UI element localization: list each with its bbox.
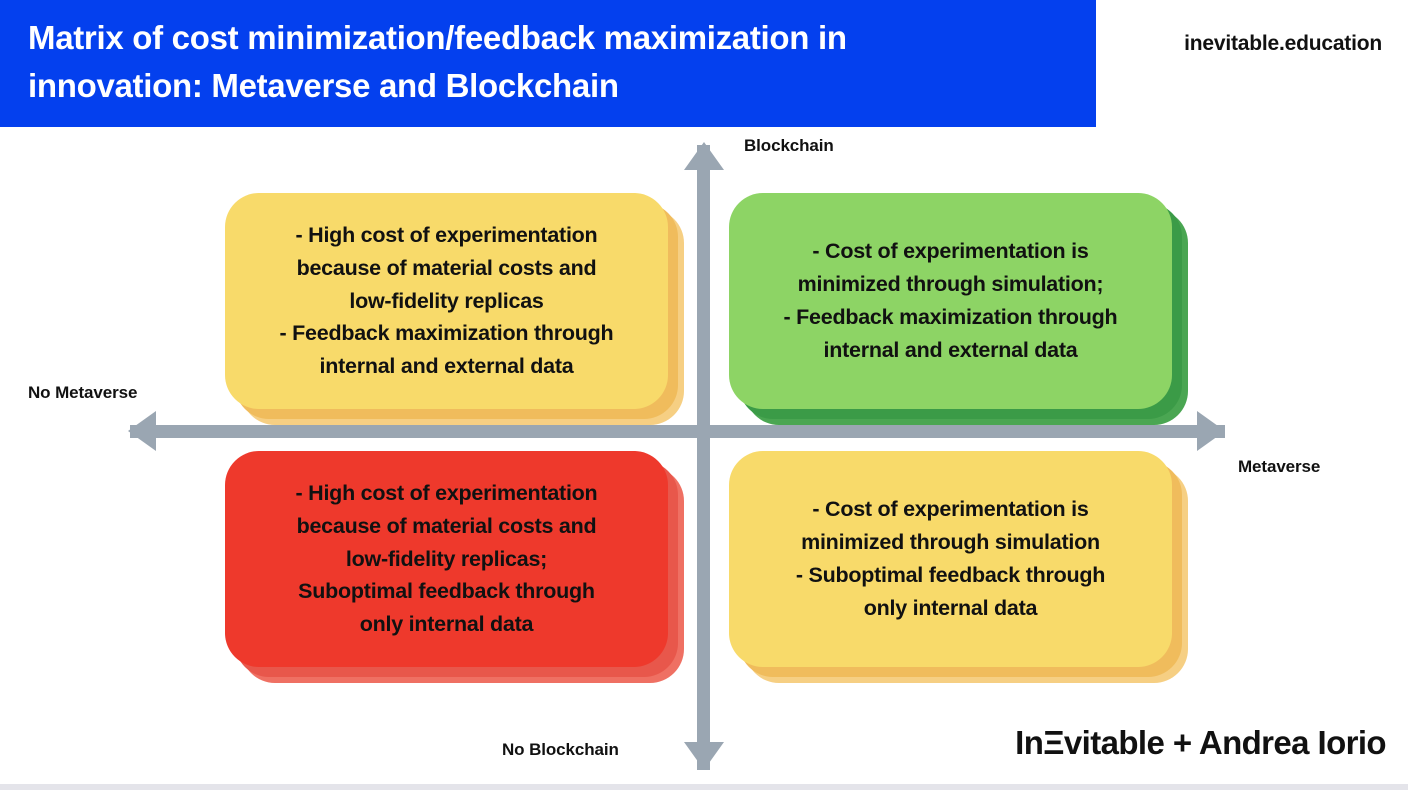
axis-label-right: Metaverse xyxy=(1238,457,1320,477)
quadrant-card-top-left: - High cost of experimentation because o… xyxy=(225,193,668,409)
arrow-down-icon xyxy=(684,742,724,770)
page-title: Matrix of cost minimization/feedback max… xyxy=(28,14,847,110)
quadrant-text: - High cost of experimentation because o… xyxy=(296,477,598,641)
quadrant-text: - High cost of experimentation because o… xyxy=(280,219,614,383)
vertical-axis-line xyxy=(697,145,710,770)
header-bar: Matrix of cost minimization/feedback max… xyxy=(0,0,1096,127)
quadrant-card-bottom-right: - Cost of experimentation is minimized t… xyxy=(729,451,1172,667)
brand-top-label: inevitable.education xyxy=(1184,32,1382,56)
brand-footer-label: InΞvitable + Andrea Iorio xyxy=(1015,724,1386,762)
arrow-right-icon xyxy=(1197,411,1225,451)
arrow-up-icon xyxy=(684,142,724,170)
quadrant-card-top-right: - Cost of experimentation is minimized t… xyxy=(729,193,1172,409)
axis-label-left: No Metaverse xyxy=(28,383,137,403)
quadrant-text: - Cost of experimentation is minimized t… xyxy=(796,493,1105,625)
horizontal-axis-line xyxy=(130,425,1225,438)
slide-canvas: Matrix of cost minimization/feedback max… xyxy=(0,0,1408,790)
axis-label-bottom: No Blockchain xyxy=(502,740,619,760)
arrow-left-icon xyxy=(128,411,156,451)
quadrant-text: - Cost of experimentation is minimized t… xyxy=(784,235,1118,367)
axis-label-top: Blockchain xyxy=(744,136,834,156)
quadrant-card-bottom-left: - High cost of experimentation because o… xyxy=(225,451,668,667)
